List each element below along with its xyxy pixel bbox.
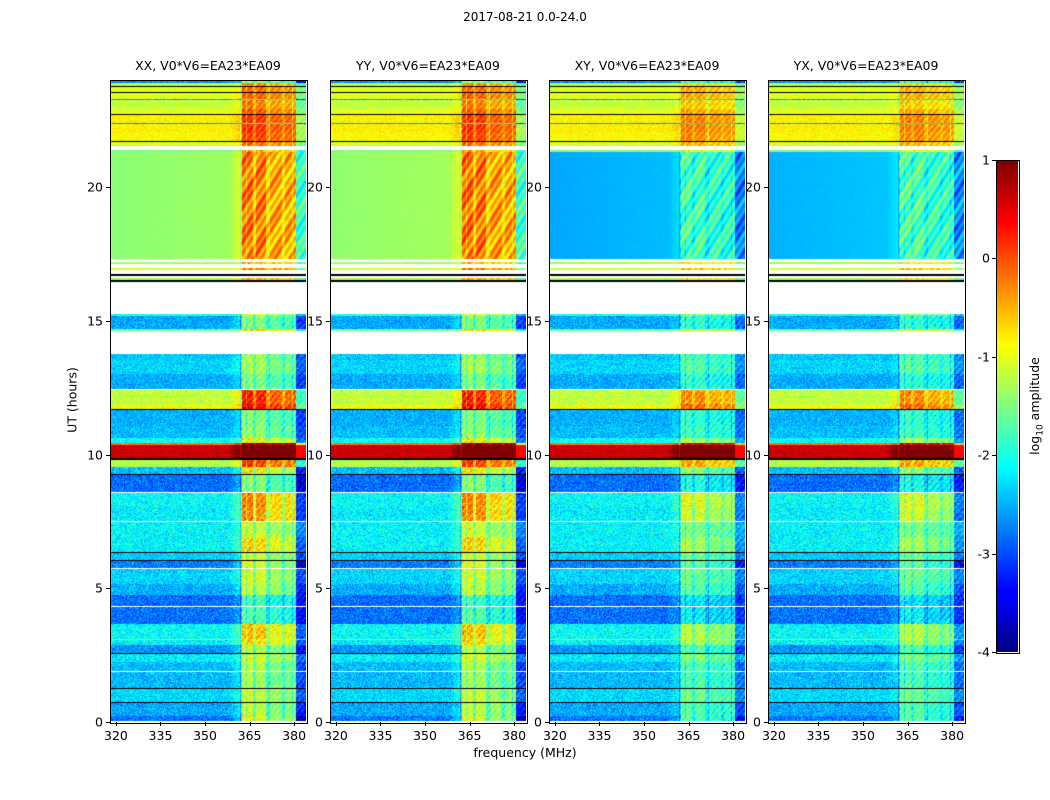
panel-yy[interactable]: YY, V0*V6=EA23*EA09 05101520320335350365… xyxy=(330,80,526,722)
y-tick-label-5: 5 xyxy=(534,581,542,596)
y-tick-mark xyxy=(326,321,330,322)
x-tick-mark xyxy=(470,722,471,726)
x-tick-label-335: 335 xyxy=(369,728,393,743)
y-tick-label-5: 5 xyxy=(753,581,761,596)
x-tick-mark xyxy=(160,722,161,726)
y-tick-mark xyxy=(545,588,549,589)
x-tick-mark xyxy=(380,722,381,726)
y-axis-label: UT (hours) xyxy=(65,367,80,433)
panel-title-yx: YX, V0*V6=EA23*EA09 xyxy=(768,58,964,73)
colorbar[interactable]: 10-1-2-3-4 xyxy=(996,160,1018,652)
y-tick-mark xyxy=(764,588,768,589)
y-tick-label-0: 0 xyxy=(95,715,103,730)
y-tick-label-5: 5 xyxy=(95,581,103,596)
y-tick-mark xyxy=(545,321,549,322)
y-tick-mark xyxy=(545,722,549,723)
y-tick-mark xyxy=(106,187,110,188)
x-tick-label-380: 380 xyxy=(940,728,964,743)
colorbar-tick-mark xyxy=(992,455,996,456)
panel-frame-yx xyxy=(768,80,966,724)
y-tick-label-15: 15 xyxy=(526,313,542,328)
x-tick-label-365: 365 xyxy=(677,728,701,743)
y-tick-mark xyxy=(545,187,549,188)
panel-title-yy: YY, V0*V6=EA23*EA09 xyxy=(330,58,526,73)
x-tick-mark xyxy=(863,722,864,726)
y-tick-label-20: 20 xyxy=(307,180,323,195)
y-tick-label-10: 10 xyxy=(87,447,103,462)
panel-xy[interactable]: XY, V0*V6=EA23*EA09 05101520320335350365… xyxy=(549,80,745,722)
x-tick-mark xyxy=(250,722,251,726)
x-tick-label-380: 380 xyxy=(721,728,745,743)
x-tick-mark xyxy=(644,722,645,726)
colorbar-tick-label-1: 1 xyxy=(982,153,990,168)
colorbar-tick-label--1: -1 xyxy=(978,349,990,364)
colorbar-tick-mark xyxy=(992,554,996,555)
x-tick-label-365: 365 xyxy=(458,728,482,743)
x-tick-mark xyxy=(425,722,426,726)
colorbar-tick-mark xyxy=(992,258,996,259)
y-tick-mark xyxy=(764,321,768,322)
y-tick-label-20: 20 xyxy=(526,180,542,195)
x-axis-label: frequency (MHz) xyxy=(0,745,1050,760)
y-tick-label-10: 10 xyxy=(526,447,542,462)
x-tick-label-350: 350 xyxy=(632,728,656,743)
panel-title-xy: XY, V0*V6=EA23*EA09 xyxy=(549,58,745,73)
y-tick-label-5: 5 xyxy=(315,581,323,596)
colorbar-tick-label-0: 0 xyxy=(982,251,990,266)
y-tick-mark xyxy=(764,187,768,188)
y-tick-label-0: 0 xyxy=(753,715,761,730)
colorbar-tick-label--2: -2 xyxy=(978,448,990,463)
x-tick-mark xyxy=(774,722,775,726)
y-tick-mark xyxy=(106,455,110,456)
x-tick-label-380: 380 xyxy=(502,728,526,743)
panel-yx[interactable]: YX, V0*V6=EA23*EA09 05101520320335350365… xyxy=(768,80,964,722)
x-tick-label-320: 320 xyxy=(104,728,128,743)
figure-canvas: 2017-08-21 0.0-24.0 UT (hours) frequency… xyxy=(0,0,1050,800)
x-tick-label-350: 350 xyxy=(851,728,875,743)
figure-suptitle: 2017-08-21 0.0-24.0 xyxy=(0,10,1050,24)
x-tick-label-320: 320 xyxy=(324,728,348,743)
y-tick-label-0: 0 xyxy=(315,715,323,730)
colorbar-tick-label--3: -3 xyxy=(978,546,990,561)
x-tick-mark xyxy=(205,722,206,726)
panel-title-xx: XX, V0*V6=EA23*EA09 xyxy=(110,58,306,73)
panel-xx[interactable]: XX, V0*V6=EA23*EA09 05101520320335350365… xyxy=(110,80,306,722)
x-tick-mark xyxy=(336,722,337,726)
x-tick-label-335: 335 xyxy=(149,728,173,743)
x-tick-label-380: 380 xyxy=(282,728,306,743)
colorbar-label-main: log xyxy=(1027,436,1042,455)
x-tick-mark xyxy=(733,722,734,726)
colorbar-label: log10 amplitude xyxy=(1027,357,1046,455)
y-tick-mark xyxy=(106,321,110,322)
colorbar-tick-mark xyxy=(992,160,996,161)
colorbar-label-sub: 10 xyxy=(1035,424,1045,435)
x-tick-label-335: 335 xyxy=(588,728,612,743)
y-tick-label-15: 15 xyxy=(307,313,323,328)
y-tick-label-10: 10 xyxy=(307,447,323,462)
panel-frame-yy xyxy=(330,80,528,724)
colorbar-label-tail: amplitude xyxy=(1027,357,1042,424)
panel-frame-xy xyxy=(549,80,747,724)
y-tick-mark xyxy=(326,187,330,188)
colorbar-frame xyxy=(996,160,1020,654)
x-tick-mark xyxy=(514,722,515,726)
y-tick-mark xyxy=(106,722,110,723)
colorbar-tick-mark xyxy=(992,357,996,358)
colorbar-tick-mark xyxy=(992,652,996,653)
x-tick-mark xyxy=(952,722,953,726)
x-tick-label-350: 350 xyxy=(413,728,437,743)
x-tick-label-320: 320 xyxy=(762,728,786,743)
y-tick-label-20: 20 xyxy=(87,180,103,195)
y-tick-label-10: 10 xyxy=(745,447,761,462)
y-tick-mark xyxy=(764,722,768,723)
x-tick-label-335: 335 xyxy=(807,728,831,743)
x-tick-mark xyxy=(294,722,295,726)
x-tick-mark xyxy=(908,722,909,726)
x-tick-label-320: 320 xyxy=(543,728,567,743)
y-tick-mark xyxy=(326,455,330,456)
x-tick-label-365: 365 xyxy=(896,728,920,743)
x-tick-label-350: 350 xyxy=(193,728,217,743)
y-tick-label-20: 20 xyxy=(745,180,761,195)
y-tick-mark xyxy=(326,588,330,589)
y-tick-mark xyxy=(764,455,768,456)
y-tick-label-0: 0 xyxy=(534,715,542,730)
y-tick-label-15: 15 xyxy=(87,313,103,328)
y-tick-mark xyxy=(326,722,330,723)
panel-frame-xx xyxy=(110,80,308,724)
x-tick-mark xyxy=(818,722,819,726)
x-tick-mark xyxy=(599,722,600,726)
y-tick-label-15: 15 xyxy=(745,313,761,328)
y-tick-mark xyxy=(106,588,110,589)
x-tick-label-365: 365 xyxy=(238,728,262,743)
colorbar-tick-label--4: -4 xyxy=(978,645,990,660)
x-tick-mark xyxy=(555,722,556,726)
x-tick-mark xyxy=(116,722,117,726)
y-tick-mark xyxy=(545,455,549,456)
x-tick-mark xyxy=(689,722,690,726)
